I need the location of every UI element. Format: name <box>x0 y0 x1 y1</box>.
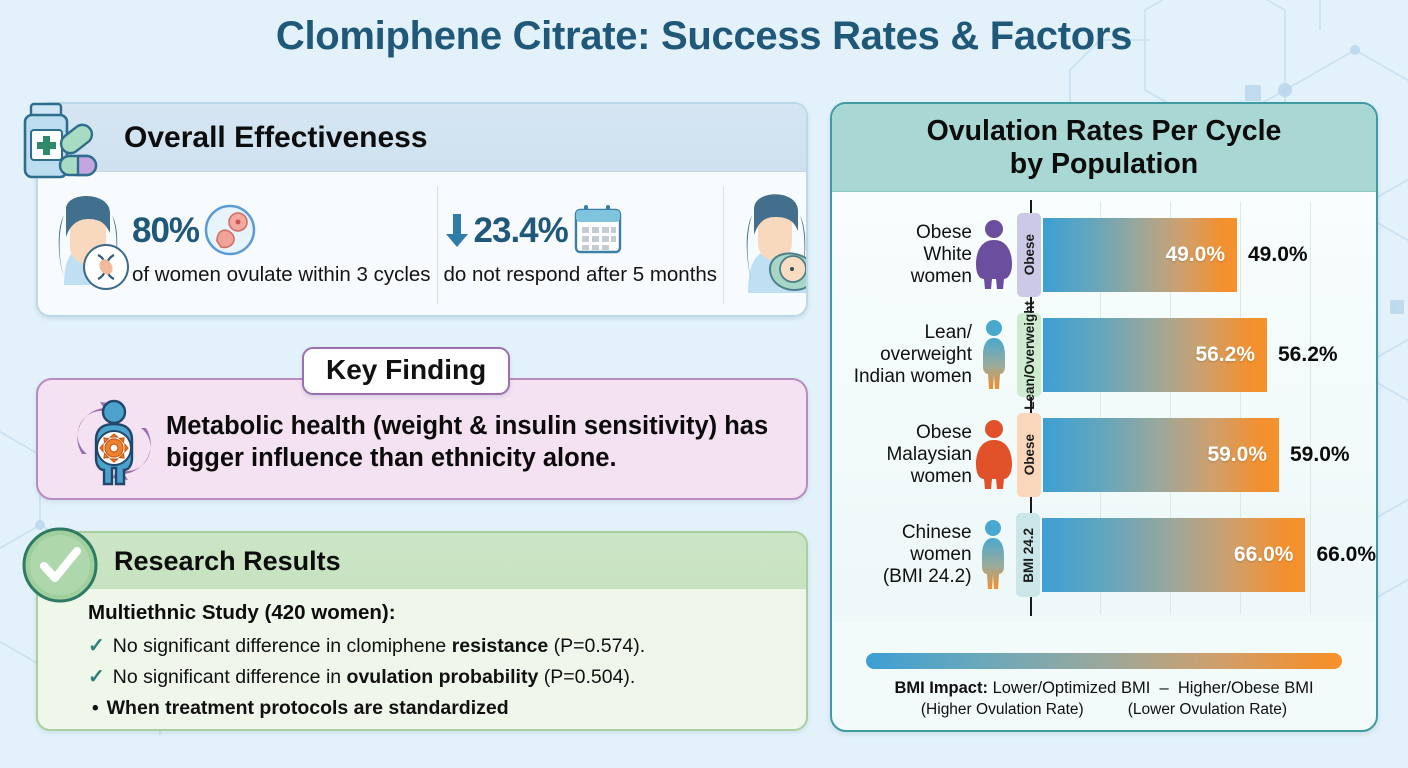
bar: 56.2% <box>1043 318 1267 392</box>
page-title: Clomiphene Citrate: Success Rates & Fact… <box>0 14 1408 59</box>
legend-label: BMI Impact: <box>894 679 988 697</box>
person-figure-icon <box>972 319 1016 391</box>
bmi-tag: Obese <box>1017 213 1041 297</box>
bar-row: Lean/ overweight Indian women Lean/Overw… <box>832 310 1376 400</box>
calendar-icon <box>572 203 624 257</box>
stat-topline: 80% <box>132 203 431 257</box>
check-icon: ✓ <box>88 634 105 658</box>
research-list-item: • When treatment protocols are standardi… <box>88 697 806 721</box>
stat-text: 23.4% do not <box>444 203 718 287</box>
person-figure-icon <box>972 519 1016 591</box>
research-results-panel: Research Results Multiethnic Study (420 … <box>36 531 808 731</box>
stat-value: 23.4% <box>474 213 568 248</box>
chart-title: Ovulation Rates Per Cycle by Population <box>927 115 1282 181</box>
bar: 66.0% <box>1042 518 1305 592</box>
bar: 59.0% <box>1043 418 1279 492</box>
legend-gradient-bar <box>866 653 1342 669</box>
bar-row-label: Obese White women <box>832 222 972 288</box>
legend-right: Higher/Obese BMI <box>1178 679 1314 697</box>
bar-outer-value: 49.0% <box>1248 243 1308 267</box>
bar-outer-value: 66.0% <box>1316 543 1376 567</box>
stat-item: 80% of women ovulate within 3 cycles <box>38 186 437 304</box>
research-results-header: Research Results <box>38 533 806 589</box>
legend-right-sub: (Lower Ovulation Rate) <box>1128 700 1287 720</box>
bar-row: Chinese women (BMI 24.2) BMI 24.2 66.0% … <box>832 510 1376 600</box>
research-item-text: No significant difference in ovulation p… <box>113 666 636 689</box>
ovum-icon <box>203 203 257 257</box>
down-arrow-icon <box>444 210 470 250</box>
legend-text: BMI Impact: Lower/Optimized BMI – Higher… <box>866 678 1342 720</box>
stats-row: 80% of women ovulate within 3 cycles <box>38 172 806 317</box>
stat-label: do not respond after 5 months <box>444 262 718 287</box>
bar-outer-value: 56.2% <box>1278 343 1338 367</box>
bullet-icon: • <box>92 698 99 721</box>
research-item-text: When treatment protocols are standardize… <box>107 697 509 720</box>
key-finding-text: Metabolic health (weight & insulin sensi… <box>166 411 806 474</box>
bar-outer-value: 59.0% <box>1290 443 1350 467</box>
key-finding-panel: Metabolic health (weight & insulin sensi… <box>36 378 808 500</box>
research-item-text: No significant difference in clomiphene … <box>113 635 645 658</box>
bar-row-label: Chinese women (BMI 24.2) <box>832 522 972 588</box>
bar-row: Obese Malaysian women Obese 59.0% 59.0% <box>832 410 1376 500</box>
research-list-item: ✓ No significant difference in clomiphen… <box>88 634 806 658</box>
research-subtitle: Multiethnic Study (420 women): <box>88 601 806 625</box>
legend-left-sub: (Higher Ovulation Rate) <box>921 700 1084 720</box>
check-icon: ✓ <box>88 665 105 689</box>
bar-inner-value: 66.0% <box>1234 543 1294 567</box>
key-finding-badge: Key Finding <box>302 347 510 395</box>
metabolism-gear-person-icon <box>60 392 168 490</box>
ovulation-chart-panel: Ovulation Rates Per Cycle by Population … <box>830 102 1378 732</box>
bar-row-label: Obese Malaysian women <box>832 422 972 488</box>
legend-dash: – <box>1159 679 1168 697</box>
bar-inner-value: 59.0% <box>1207 443 1267 467</box>
bar-row: Obese White women Obese 49.0% 49.0% <box>832 210 1376 300</box>
mother-baby-icon <box>730 189 808 301</box>
stat-label: of women ovulate within 3 cycles <box>132 262 431 287</box>
bar-row-label: Lean/ overweight Indian women <box>832 322 972 388</box>
research-results-body: Multiethnic Study (420 women): ✓ No sign… <box>38 589 806 721</box>
bar-inner-value: 56.2% <box>1195 343 1255 367</box>
legend-sublabels: (Higher Ovulation Rate) (Lower Ovulation… <box>866 700 1342 720</box>
bmi-tag: Obese <box>1017 413 1041 497</box>
person-figure-icon <box>972 419 1016 491</box>
bar: 49.0% <box>1043 218 1237 292</box>
stat-item: 28.7% live birth rate over 4 cycles <box>723 186 808 304</box>
woman-dna-icon <box>44 189 132 301</box>
bmi-tag: BMI 24.2 <box>1016 513 1040 597</box>
chart-legend: BMI Impact: Lower/Optimized BMI – Higher… <box>832 653 1376 720</box>
bmi-tag: Lean/Overweight <box>1017 313 1041 397</box>
bar-inner-value: 49.0% <box>1165 243 1225 267</box>
person-figure-icon <box>972 219 1016 291</box>
legend-left: Lower/Optimized BMI <box>993 679 1151 697</box>
overall-effectiveness-header: Overall Effectiveness <box>38 104 806 172</box>
stat-item: 23.4% do not <box>437 186 724 304</box>
chart-header: Ovulation Rates Per Cycle by Population <box>832 104 1376 192</box>
overall-effectiveness-panel: Overall Effectiveness 80% <box>36 102 808 317</box>
pill-bottle-icon <box>14 98 106 190</box>
stat-text: 80% of women ovulate within 3 cycles <box>132 203 431 287</box>
stat-value: 80% <box>132 213 199 248</box>
research-list-item: ✓ No significant difference in ovulation… <box>88 665 806 689</box>
stat-topline: 23.4% <box>444 203 718 257</box>
overall-effectiveness-title: Overall Effectiveness <box>124 121 428 155</box>
infographic-page: Clomiphene Citrate: Success Rates & Fact… <box>0 0 1408 768</box>
chart-plot-area: Obese White women Obese 49.0% 49.0% Lean… <box>832 192 1376 622</box>
check-circle-icon <box>20 525 100 605</box>
research-results-title: Research Results <box>114 546 341 577</box>
legend-line-main: BMI Impact: Lower/Optimized BMI – Higher… <box>866 678 1342 699</box>
